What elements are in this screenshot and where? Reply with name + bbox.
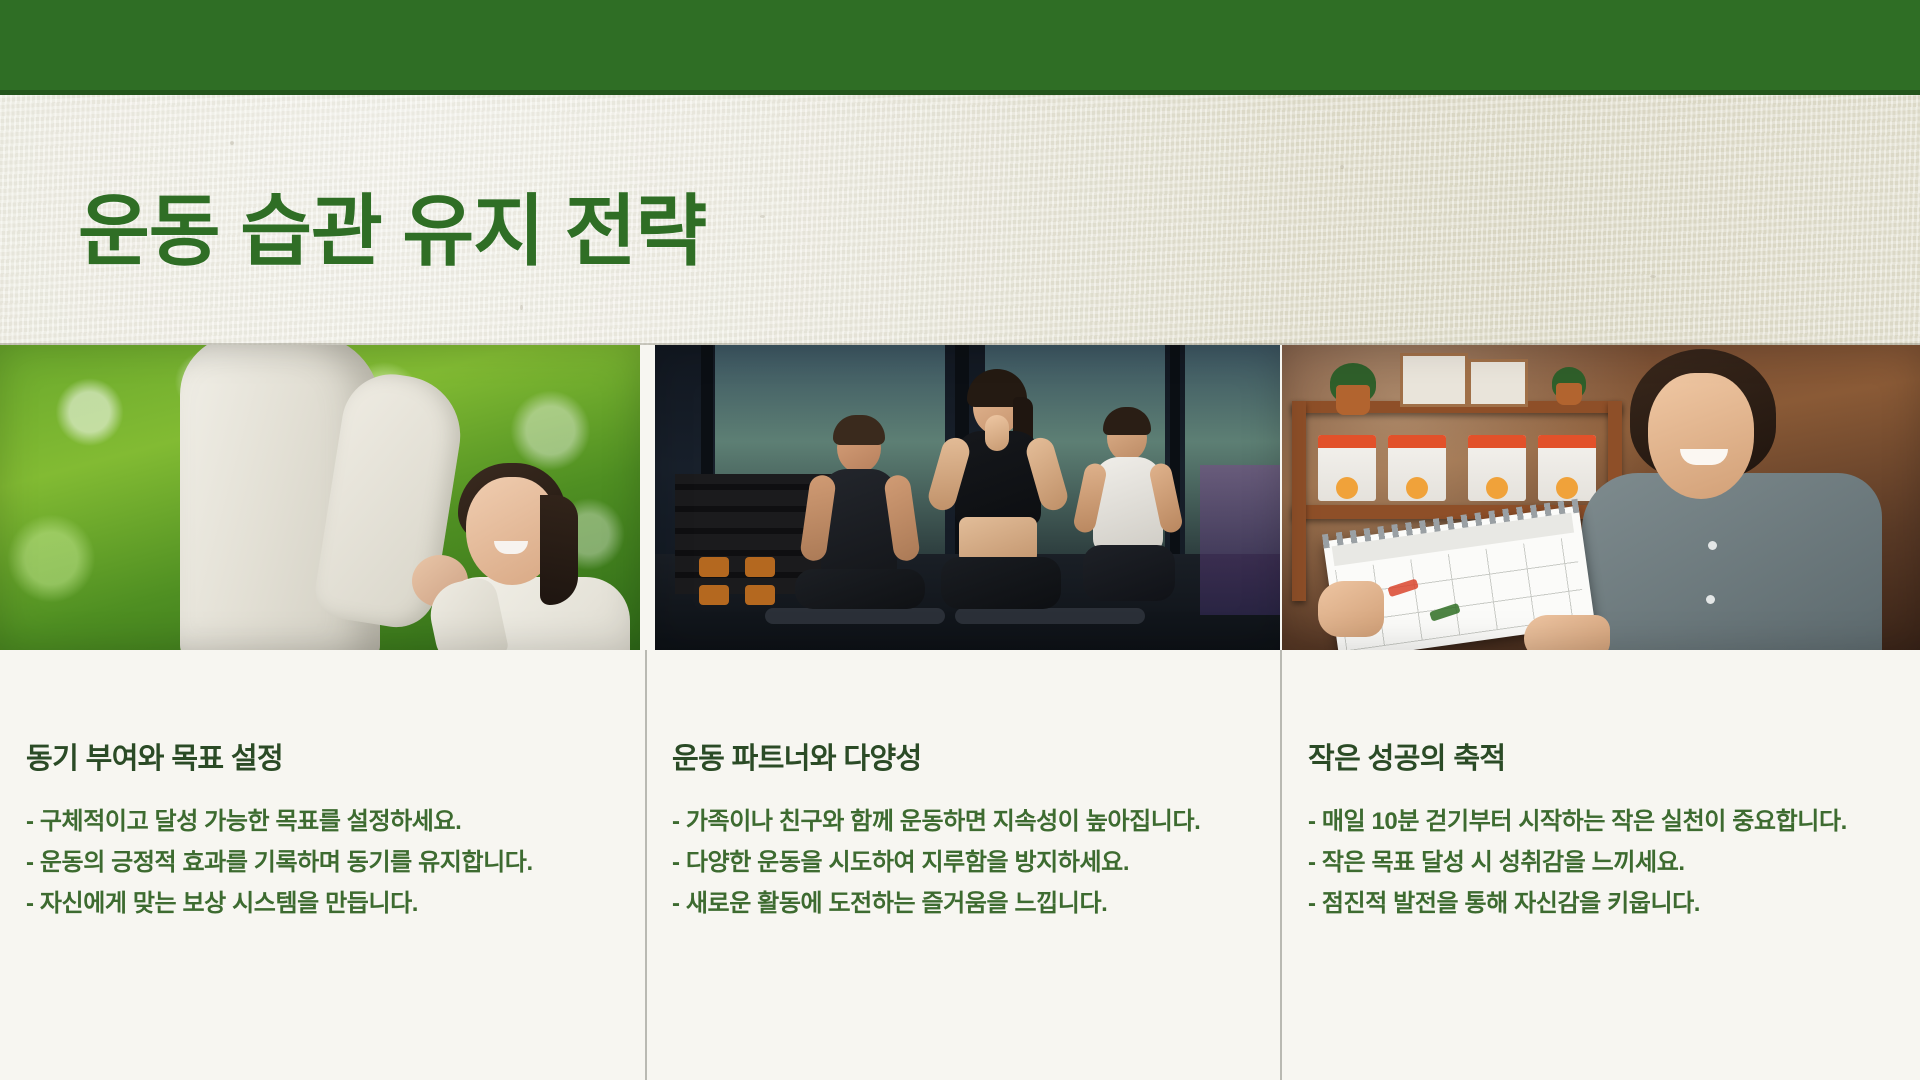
column-divider-1 [645, 650, 647, 1080]
column-divider-2 [1280, 650, 1282, 1080]
photo-vignette [0, 345, 640, 650]
column-2-bullets: - 가족이나 친구와 함께 운동하면 지속성이 높아집니다. - 다양한 운동을… [672, 777, 1262, 924]
list-item: - 점진적 발전을 통해 자신감을 키웁니다. [1308, 885, 1898, 924]
paper-speck [1650, 275, 1656, 278]
paper-speck [520, 305, 523, 310]
top-green-bar [0, 0, 1920, 90]
column-3-title: 작은 성공의 축적 [1308, 650, 1898, 777]
photo-calendar-woman [1282, 345, 1920, 650]
paper-speck [1340, 165, 1344, 169]
column-1-bullets: - 구체적이고 달성 가능한 목표를 설정하세요. - 운동의 긍정적 효과를 … [26, 777, 626, 924]
list-item: - 다양한 운동을 시도하여 지루함을 방지하세요. [672, 844, 1262, 883]
content-column-3: 작은 성공의 축적 - 매일 10분 걷기부터 시작하는 작은 실천이 중요합니… [1308, 650, 1898, 926]
paper-speck [760, 215, 765, 218]
list-item: - 가족이나 친구와 함께 운동하면 지속성이 높아집니다. [672, 803, 1262, 842]
photo-outdoor-walking [0, 345, 640, 650]
column-3-bullets: - 매일 10분 걷기부터 시작하는 작은 실천이 중요합니다. - 작은 목표… [1308, 777, 1898, 924]
photo-gym-yoga [655, 345, 1280, 650]
photo-vignette [1282, 345, 1920, 650]
list-item: - 운동의 긍정적 효과를 기록하며 동기를 유지합니다. [26, 844, 626, 883]
content-column-1: 동기 부여와 목표 설정 - 구체적이고 달성 가능한 목표를 설정하세요. -… [26, 650, 626, 926]
content-area: 동기 부여와 목표 설정 - 구체적이고 달성 가능한 목표를 설정하세요. -… [0, 650, 1920, 1080]
paper-speck [230, 141, 234, 145]
column-1-title: 동기 부여와 목표 설정 [26, 650, 626, 777]
photo-strip [0, 345, 1920, 650]
column-2-title: 운동 파트너와 다양성 [672, 650, 1262, 777]
list-item: - 새로운 활동에 도전하는 즐거움을 느낍니다. [672, 885, 1262, 924]
list-item: - 구체적이고 달성 가능한 목표를 설정하세요. [26, 803, 626, 842]
list-item: - 매일 10분 걷기부터 시작하는 작은 실천이 중요합니다. [1308, 803, 1898, 842]
content-column-2: 운동 파트너와 다양성 - 가족이나 친구와 함께 운동하면 지속성이 높아집니… [672, 650, 1262, 926]
slide-root: 운동 습관 유지 전략 [0, 0, 1920, 1080]
page-title: 운동 습관 유지 전략 [78, 192, 706, 270]
list-item: - 작은 목표 달성 시 성취감을 느끼세요. [1308, 844, 1898, 883]
photo-vignette [655, 345, 1280, 650]
list-item: - 자신에게 맞는 보상 시스템을 만듭니다. [26, 885, 626, 924]
